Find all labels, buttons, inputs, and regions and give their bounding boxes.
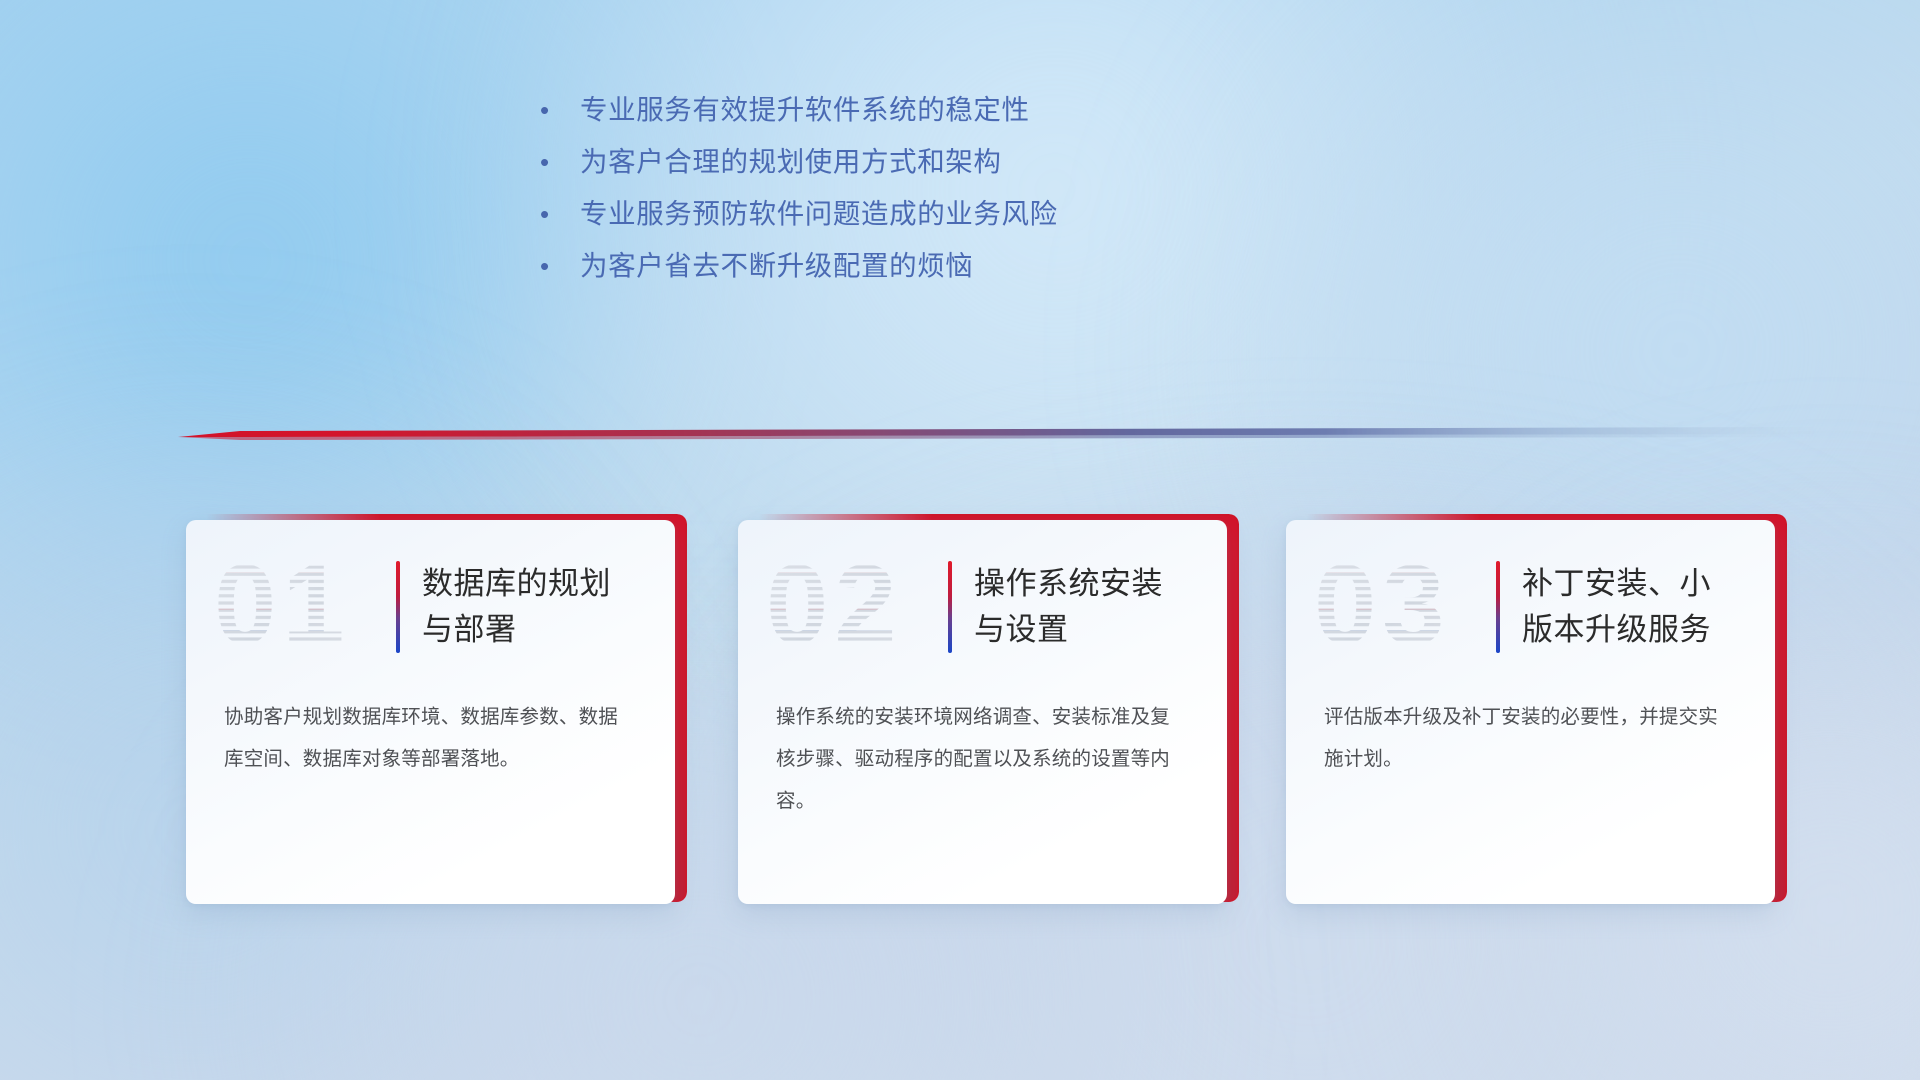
card-title: 操作系统安装 与设置 xyxy=(974,561,1173,653)
card-accent-bar xyxy=(396,561,400,653)
service-card-03[interactable]: 03 补丁安装、小 xyxy=(1286,520,1781,908)
card-description: 操作系统的安装环境网络调查、安装标准及复核步骤、驱动程序的配置以及系统的设置等内… xyxy=(776,696,1188,822)
bullet-dot-icon: • xyxy=(540,242,580,290)
bullet-dot-icon: • xyxy=(540,86,580,134)
list-item: • 为客户合理的规划使用方式和架构 xyxy=(540,138,1300,190)
benefits-bullet-list: • 专业服务有效提升软件系统的稳定性 • 为客户合理的规划使用方式和架构 • 专… xyxy=(540,86,1300,294)
list-item: • 为客户省去不断升级配置的烦恼 xyxy=(540,242,1300,294)
service-card-02[interactable]: 02 操作系统安装 xyxy=(738,520,1233,908)
card-surface: 02 操作系统安装 xyxy=(738,520,1227,904)
bullet-item-label: 专业服务预防软件问题造成的业务风险 xyxy=(580,190,1058,238)
card-number-02-graphic: 02 xyxy=(764,551,944,663)
bullet-dot-icon: • xyxy=(540,138,580,186)
card-header: 01 数据库的规划 xyxy=(186,542,675,672)
card-surface: 03 补丁安装、小 xyxy=(1286,520,1775,904)
bullet-item-label: 为客户合理的规划使用方式和架构 xyxy=(580,138,1002,186)
section-divider xyxy=(178,424,1818,446)
service-card-01[interactable]: 01 数据库的规划 xyxy=(186,520,681,908)
card-description: 评估版本升级及补丁安装的必要性，并提交实施计划。 xyxy=(1324,696,1736,780)
bullet-item-label: 专业服务有效提升软件系统的稳定性 xyxy=(580,86,1030,134)
service-card-group: 01 数据库的规划 xyxy=(0,520,1920,940)
card-title: 补丁安装、小 版本升级服务 xyxy=(1522,561,1721,653)
list-item: • 专业服务有效提升软件系统的稳定性 xyxy=(540,86,1300,138)
card-accent-bar xyxy=(1496,561,1500,653)
card-number-01-graphic: 01 xyxy=(212,551,392,663)
bullet-dot-icon: • xyxy=(540,190,580,238)
card-accent-bar xyxy=(948,561,952,653)
card-header: 03 补丁安装、小 xyxy=(1286,542,1775,672)
card-surface: 01 数据库的规划 xyxy=(186,520,675,904)
card-description: 协助客户规划数据库环境、数据库参数、数据库空间、数据库对象等部署落地。 xyxy=(224,696,636,780)
list-item: • 专业服务预防软件问题造成的业务风险 xyxy=(540,190,1300,242)
bullet-item-label: 为客户省去不断升级配置的烦恼 xyxy=(580,242,973,290)
card-number-03-graphic: 03 xyxy=(1312,551,1492,663)
card-header: 02 操作系统安装 xyxy=(738,542,1227,672)
card-title: 数据库的规划 与部署 xyxy=(422,561,621,653)
